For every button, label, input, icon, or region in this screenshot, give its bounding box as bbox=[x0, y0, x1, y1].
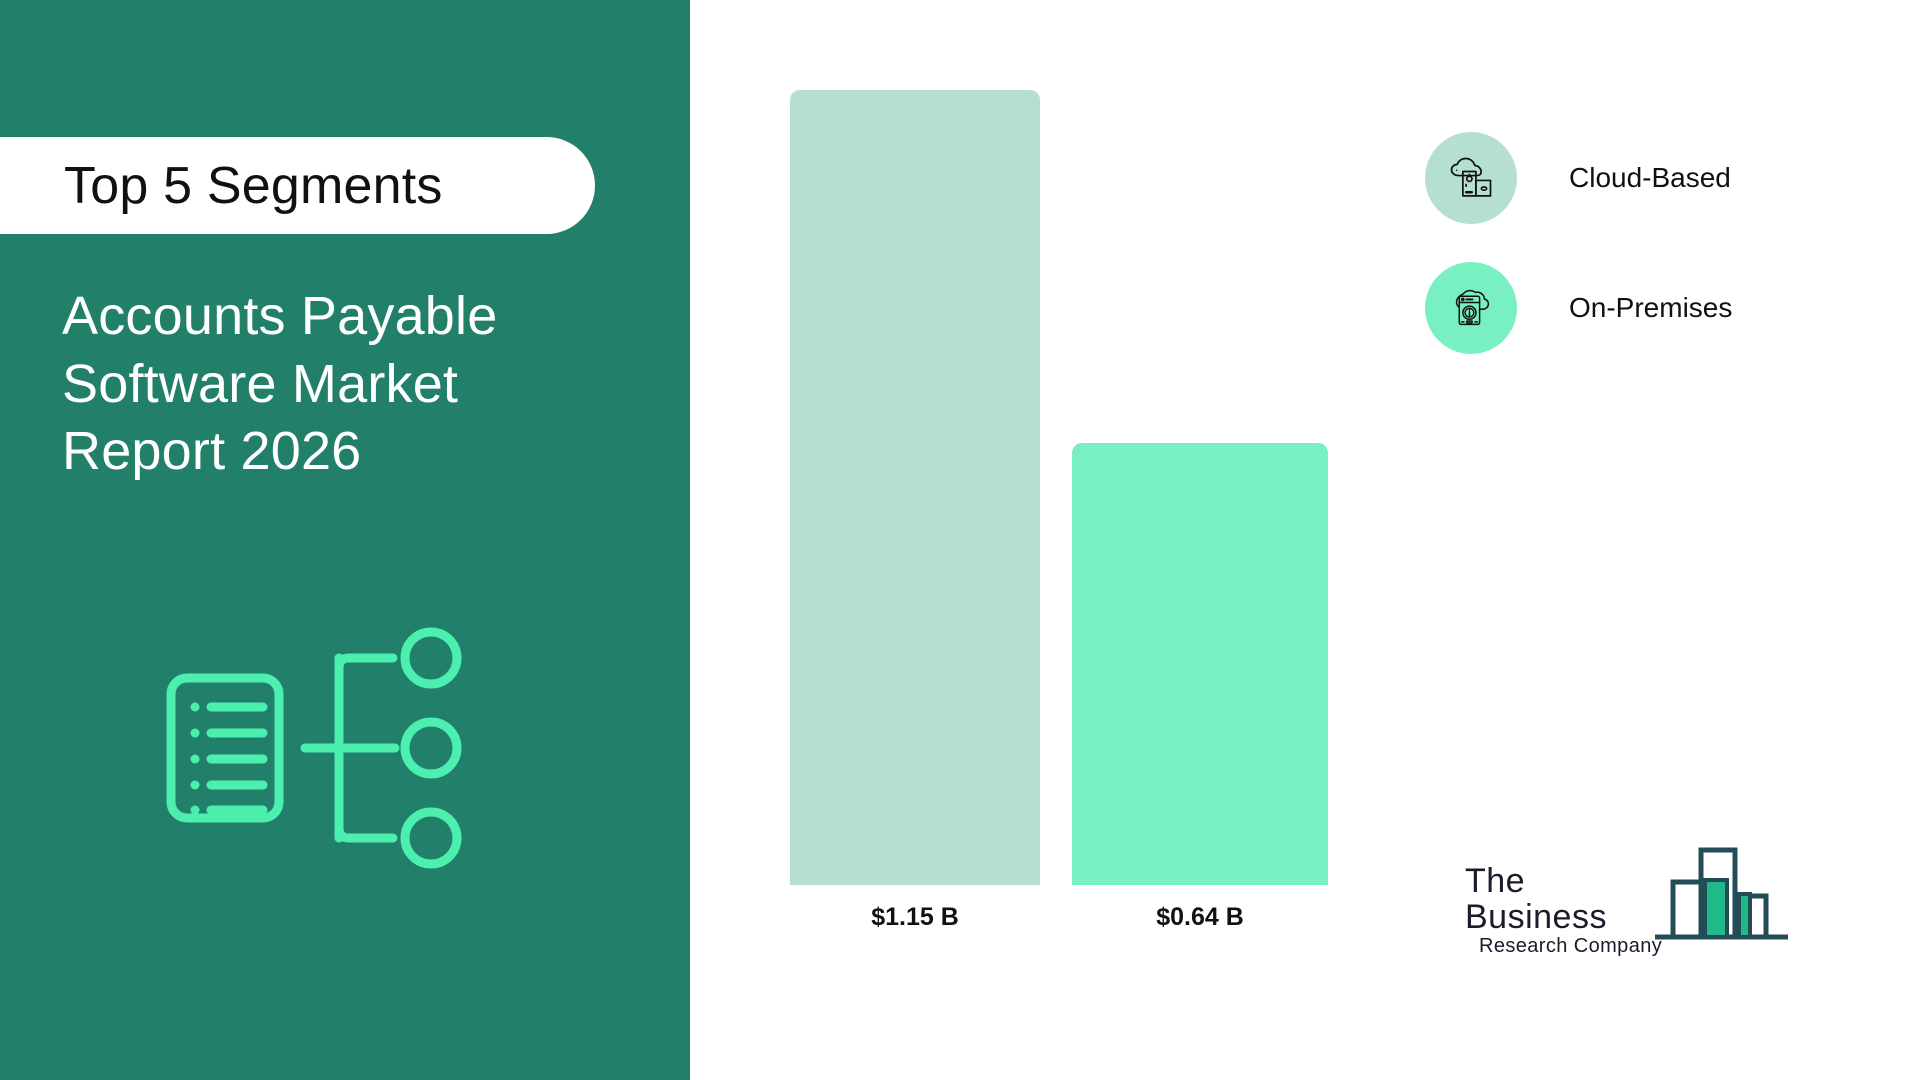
chart-legend: Cloud-Based bbox=[1425, 132, 1732, 392]
cloud-server-icon bbox=[1425, 132, 1517, 224]
legend-item-on-premises-label: On-Premises bbox=[1569, 292, 1732, 324]
segments-pill-banner: Top 5 Segments bbox=[0, 137, 595, 234]
on-premises-device-cloud-icon bbox=[1425, 262, 1517, 354]
company-logo-line1: The Business bbox=[1465, 864, 1670, 935]
segments-pill-label: Top 5 Segments bbox=[64, 160, 443, 212]
legend-item-cloud-based[interactable]: Cloud-Based bbox=[1425, 132, 1732, 224]
bar-cloud-based[interactable] bbox=[790, 90, 1040, 885]
document-segments-tree-icon bbox=[165, 620, 485, 920]
bar-on-premises-value-label: $0.64 B bbox=[1072, 903, 1328, 932]
bar-chart-logo-mark bbox=[1653, 838, 1790, 946]
bar-cloud-based-value-label: $1.15 B bbox=[790, 903, 1040, 932]
company-logo-line2: Research Company bbox=[1479, 935, 1670, 957]
bar-on-premises[interactable] bbox=[1072, 443, 1328, 885]
report-title: Accounts Payable Software Market Report … bbox=[62, 283, 622, 486]
company-logo-text: The Business Research Company bbox=[1465, 864, 1670, 957]
legend-item-cloud-based-label: Cloud-Based bbox=[1569, 162, 1731, 194]
company-logo[interactable]: The Business Research Company bbox=[1465, 838, 1790, 958]
left-panel: Top 5 Segments Accounts Payable Software… bbox=[0, 0, 690, 1080]
legend-item-on-premises[interactable]: On-Premises bbox=[1425, 262, 1732, 354]
